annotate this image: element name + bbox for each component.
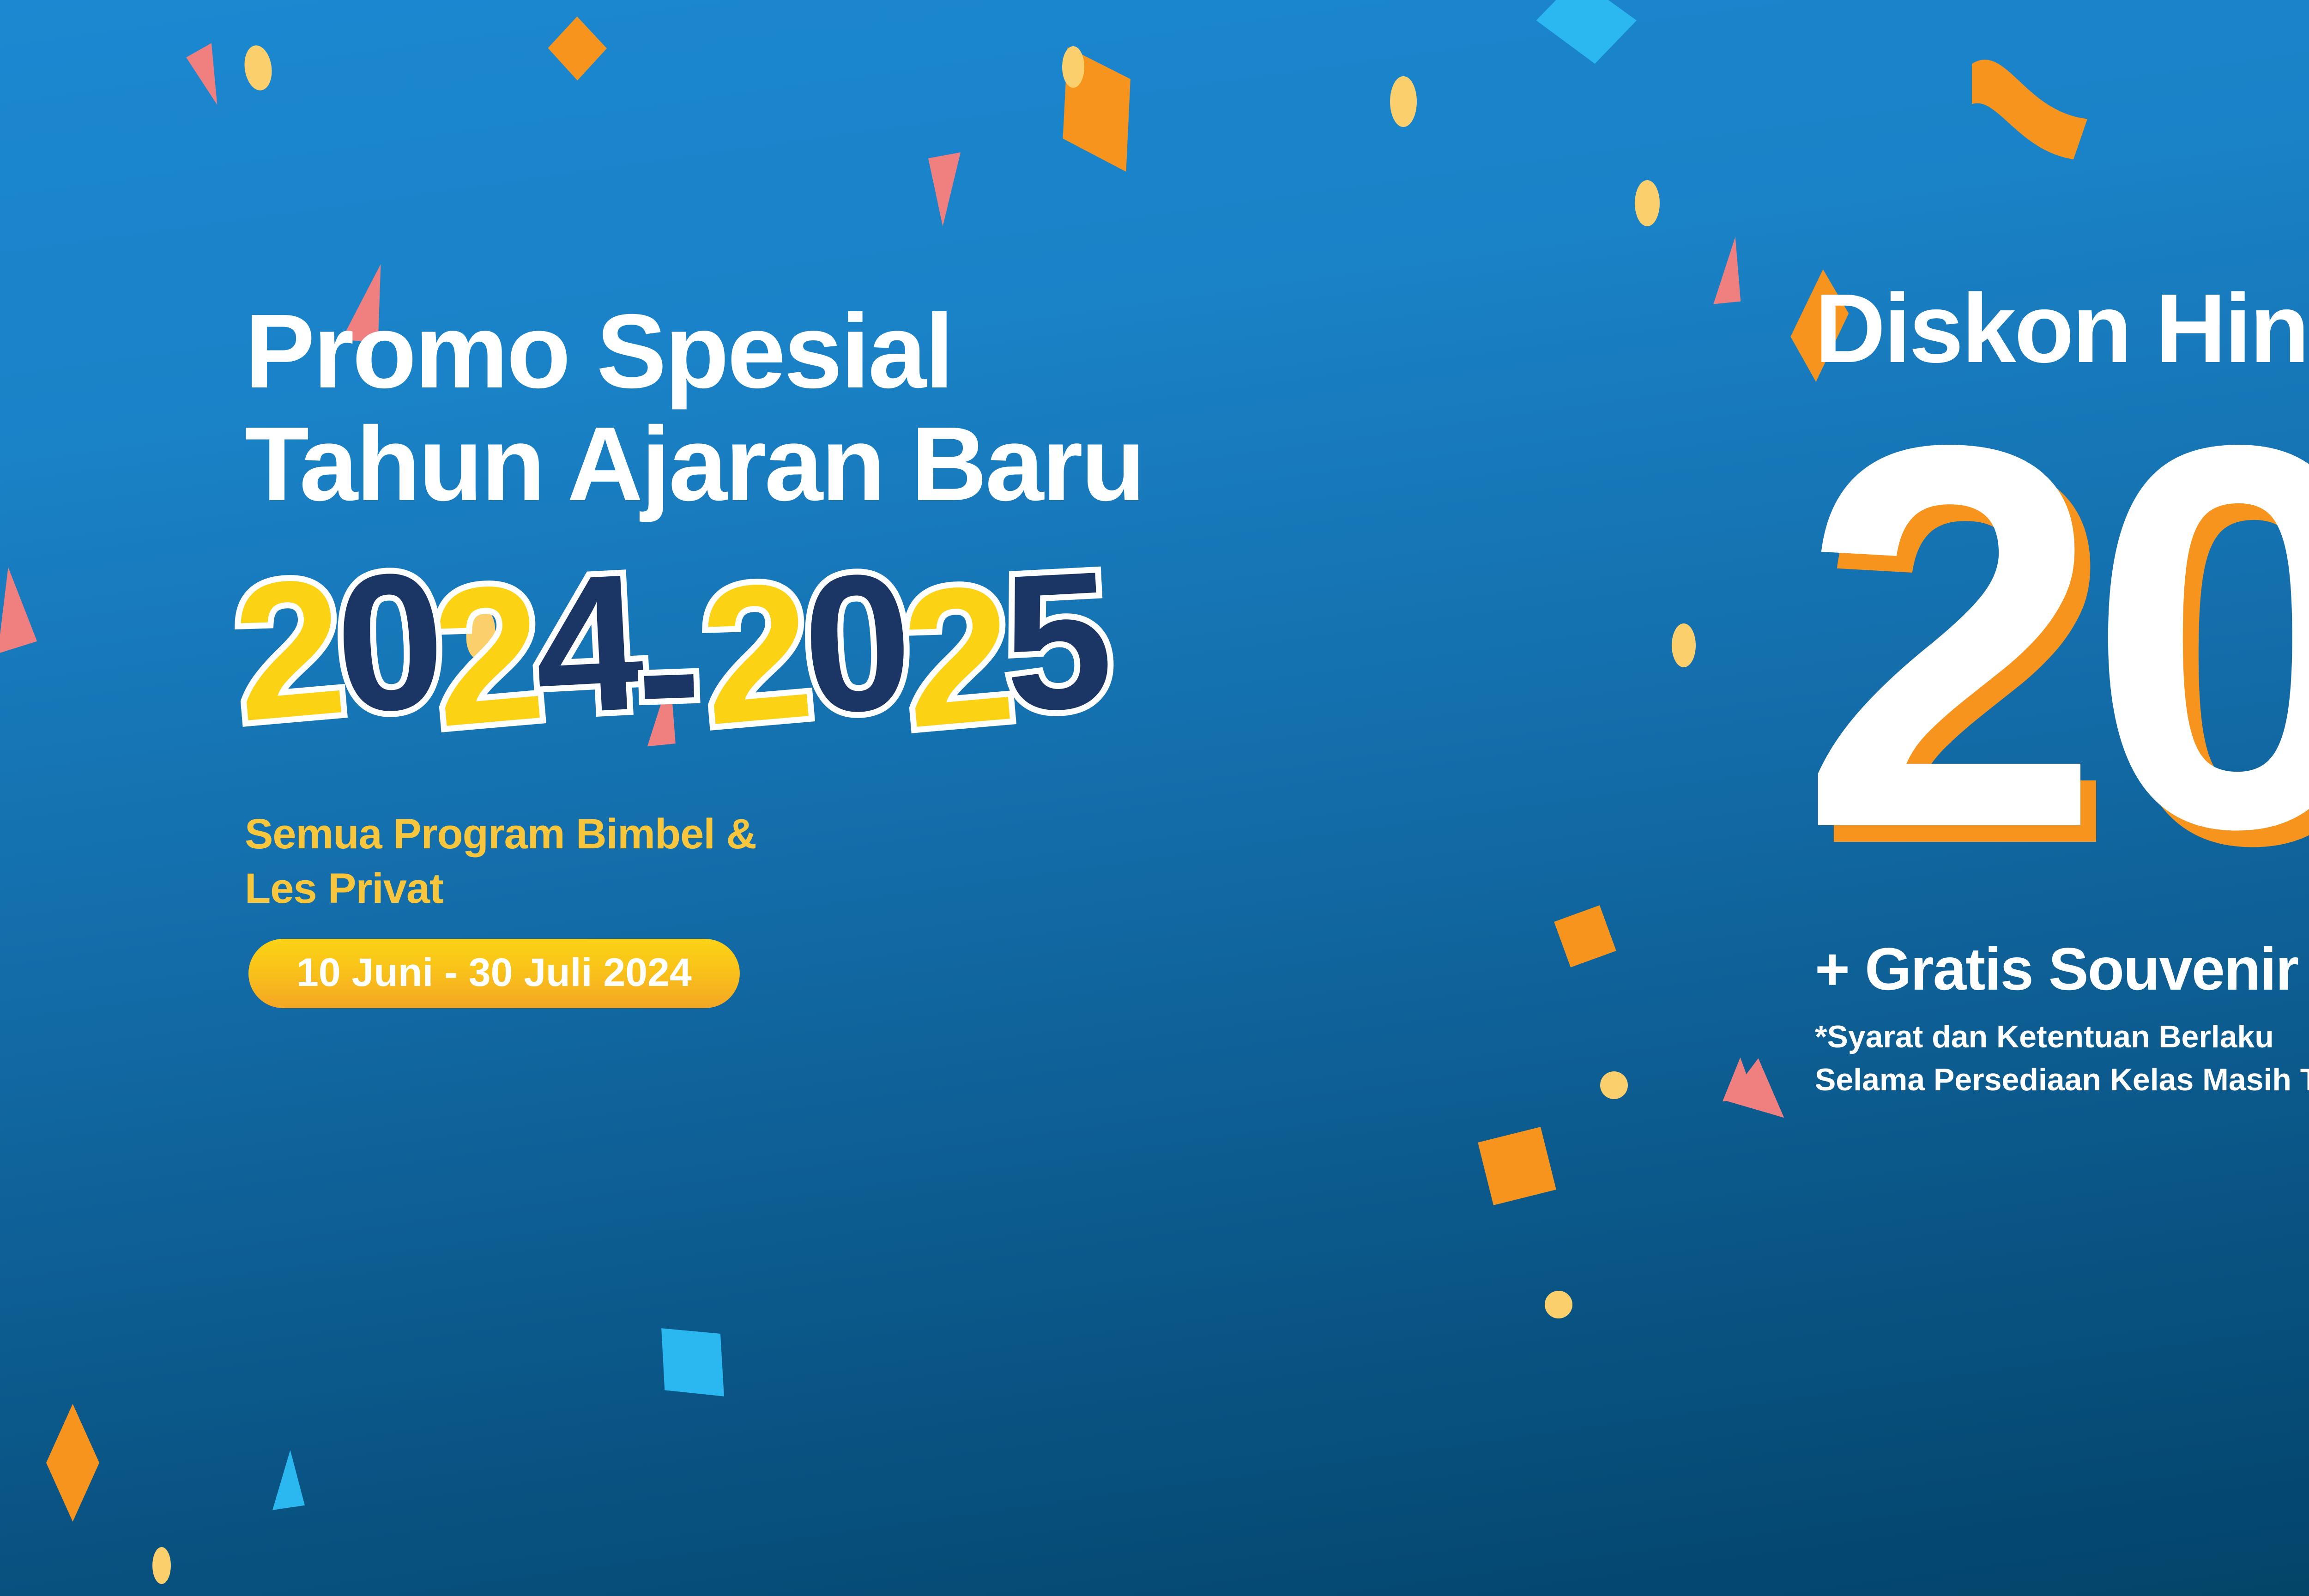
discount-value: 20 xyxy=(1799,364,2309,909)
quad-confetti-icon xyxy=(641,1307,744,1418)
year-digit: 5 xyxy=(999,542,1110,741)
year-digit: 2 xyxy=(896,556,1014,758)
triangle-confetti-icon xyxy=(928,152,961,226)
circle-confetti-icon xyxy=(1600,1071,1628,1099)
square-confetti-icon xyxy=(1478,1127,1556,1205)
ellipse-confetti-icon xyxy=(1390,76,1417,127)
page-title: Promo Spesial Tahun Ajaran Baru xyxy=(245,296,1676,521)
year-digit: 0 xyxy=(331,543,442,742)
quad-confetti-icon xyxy=(1045,36,1149,183)
program-subtitle: Semua Program Bimbel & Les Privat xyxy=(245,807,1676,916)
year-digit: 2 xyxy=(426,555,544,757)
triangle-confetti-icon xyxy=(1713,235,1747,307)
discount-value-row: 20 % xyxy=(1815,364,2309,909)
triangle-confetti-icon xyxy=(1723,1058,1755,1101)
ellipse-confetti-icon xyxy=(1062,46,1084,88)
bonus-offer-text: + Gratis Souvenir Cantik xyxy=(1815,939,2309,999)
diamond-confetti-icon xyxy=(46,1404,99,1522)
left-content-column: Promo Spesial Tahun Ajaran Baru 2024-202… xyxy=(245,296,1676,1008)
triangle-confetti-icon xyxy=(272,1450,305,1510)
ribbon-confetti-icon xyxy=(1972,60,2087,159)
quad-confetti-icon xyxy=(1529,0,1644,71)
ellipse-confetti-icon xyxy=(242,43,274,92)
triangle-confetti-icon xyxy=(185,43,232,109)
academic-year-lockup: 2024-2025 xyxy=(236,541,1676,800)
promo-date-badge: 10 Juni - 30 Juli 2024 xyxy=(248,939,740,1008)
year-digit: - xyxy=(633,573,698,768)
year-digit: 0 xyxy=(798,544,910,743)
year-digit: 2 xyxy=(227,549,345,751)
quad-confetti-icon xyxy=(541,11,613,86)
triangle-confetti-icon xyxy=(1717,1057,1784,1134)
ellipse-confetti-icon xyxy=(152,1547,171,1584)
triangle-confetti-icon xyxy=(0,565,38,653)
terms-and-conditions: *Syarat dan Ketentuan Berlaku Selama Per… xyxy=(1815,1016,2309,1102)
ellipse-confetti-icon xyxy=(1635,180,1660,226)
year-digit: 4 xyxy=(530,545,641,744)
right-content-column: Diskon Hingga 20 % + Gratis Souvenir Can… xyxy=(1815,277,2309,1102)
year-digit: 2 xyxy=(695,553,812,755)
promo-banner: Promo Spesial Tahun Ajaran Baru 2024-202… xyxy=(0,0,2309,1596)
circle-confetti-icon xyxy=(1545,1291,1572,1318)
